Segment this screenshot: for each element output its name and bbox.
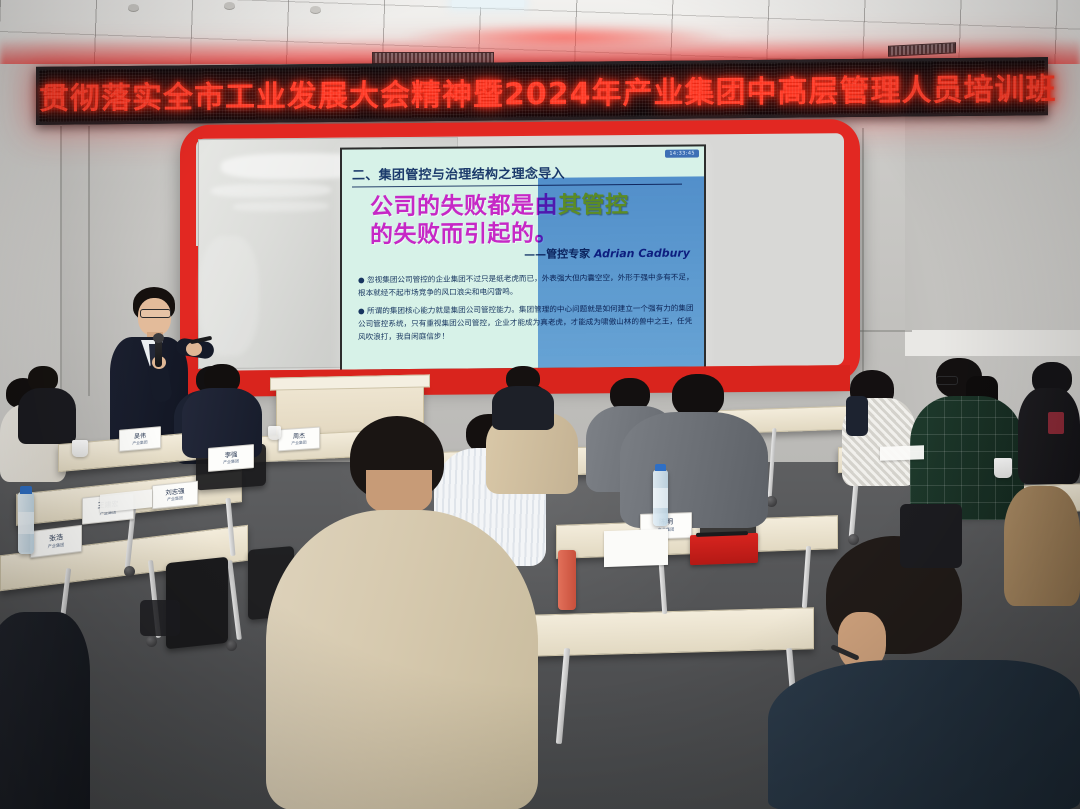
bottle-cap bbox=[655, 464, 666, 471]
glasses-icon bbox=[936, 376, 958, 385]
attendee-torso bbox=[492, 386, 554, 430]
placard-sub: 产业集团 bbox=[132, 440, 147, 445]
attendee-torso bbox=[18, 388, 76, 444]
wall-seam-3 bbox=[60, 126, 62, 426]
attendee-nape bbox=[366, 470, 432, 514]
ceiling-red-glow-spot bbox=[400, 24, 730, 50]
ceiling-light bbox=[452, 0, 524, 7]
desk-caster bbox=[848, 534, 859, 545]
led-dot-matrix-overlay bbox=[39, 60, 1045, 122]
attendee-torso bbox=[1018, 388, 1080, 484]
bottle-label bbox=[18, 512, 34, 534]
classroom-photo: 贯彻落实全市工业发展大会精神暨2024年产业集团中高层管理人员培训班 14:33… bbox=[0, 0, 1080, 809]
smoke-detector-icon-2 bbox=[224, 2, 235, 9]
paper-sheet bbox=[604, 529, 668, 567]
smoke-detector-icon-3 bbox=[310, 6, 321, 13]
paper-cup bbox=[72, 440, 88, 457]
placard-sub: 产业集团 bbox=[223, 460, 239, 465]
slide-blue-overlay-band bbox=[538, 176, 704, 367]
glasses-icon bbox=[140, 309, 171, 318]
headline-line2-part-1: 的失败而引起的。 bbox=[370, 221, 558, 249]
right-wall-strip bbox=[905, 330, 1080, 356]
projected-slide: 14:33:45 二、集团管控与治理结构之理念导入 公司的失败都是由其管控 的失… bbox=[340, 144, 706, 371]
paper-cup bbox=[994, 458, 1012, 478]
led-banner: 贯彻落实全市工业发展大会精神暨2024年产业集团中高层管理人员培训班 bbox=[36, 57, 1048, 125]
wall-seam-4 bbox=[88, 126, 90, 396]
slide-timestamp-badge: 14:33:45 bbox=[665, 149, 699, 157]
attendee-torso bbox=[266, 510, 538, 809]
attendee-torso bbox=[620, 412, 768, 528]
attendee-torso bbox=[1004, 486, 1080, 606]
desk-caster bbox=[146, 636, 157, 647]
bottle-cap bbox=[20, 486, 32, 494]
placard-sub: 产业集团 bbox=[48, 543, 65, 549]
bag bbox=[140, 600, 180, 636]
desk-caster bbox=[124, 566, 135, 577]
attendee-torso bbox=[0, 612, 90, 809]
desk-caster bbox=[226, 640, 237, 651]
red-notebook bbox=[690, 533, 758, 565]
bottle-red bbox=[558, 550, 576, 610]
bottle-label bbox=[653, 488, 668, 508]
microphone bbox=[155, 339, 162, 367]
slide-headline-line2: 的失败而引起的。 bbox=[370, 214, 558, 250]
paper-sheet bbox=[880, 445, 924, 461]
name-placard: 吴伟 产业集团 bbox=[119, 426, 161, 452]
attendee-inner-top bbox=[846, 396, 868, 436]
placard-sub: 产业集团 bbox=[167, 496, 183, 502]
microphone-head-icon bbox=[153, 333, 164, 343]
attendee-torso bbox=[768, 660, 1080, 809]
paper-cup bbox=[268, 426, 281, 440]
placard-sub: 产业集团 bbox=[291, 440, 306, 445]
name-placard: 李强 产业集团 bbox=[208, 444, 254, 472]
bag bbox=[900, 504, 962, 568]
smoke-detector-icon bbox=[128, 4, 139, 11]
hoodie-graphic bbox=[1048, 412, 1064, 434]
name-placard: 刘志强 产业集团 bbox=[152, 481, 198, 510]
name-placard: 周杰 产业集团 bbox=[278, 427, 320, 452]
presenter-hand-right bbox=[186, 342, 202, 356]
